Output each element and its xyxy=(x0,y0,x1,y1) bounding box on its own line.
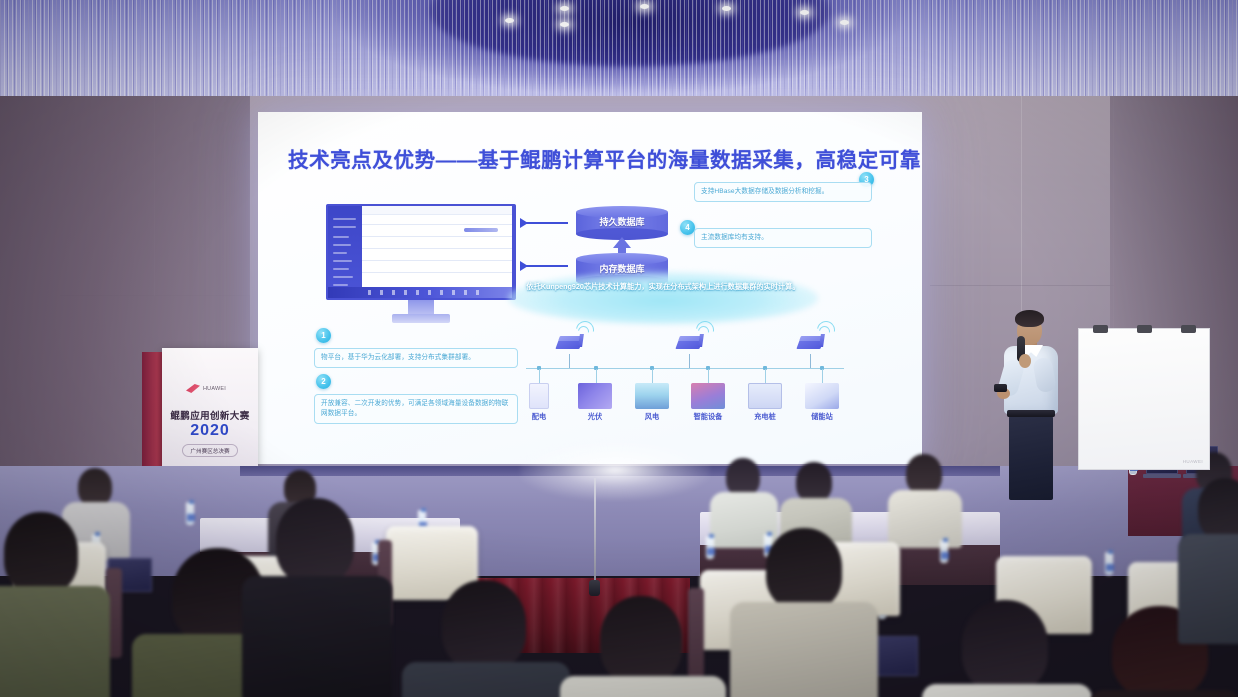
wall-tile xyxy=(930,96,1022,286)
banner-subtitle: 广州赛区总决赛 xyxy=(182,444,238,457)
water-bottle xyxy=(706,536,714,559)
flow-arrow-line xyxy=(526,265,568,267)
gateway-connector xyxy=(810,354,811,368)
microphone-stand xyxy=(594,478,596,586)
microphone-stand-head xyxy=(589,580,600,596)
ceiling-downlight xyxy=(640,4,649,9)
bus-drop xyxy=(596,369,597,383)
person-body xyxy=(0,586,110,697)
device-bus-line xyxy=(526,368,844,369)
banner-panel: HUAWEI 鲲鹏应用创新大赛 2020 广州赛区总决赛 xyxy=(162,348,258,478)
person-body xyxy=(402,662,570,697)
ceiling-downlight xyxy=(800,10,809,15)
monitor-taskbar xyxy=(328,287,512,298)
whiteboard-clip xyxy=(1137,325,1152,333)
projection-screen: 技术亮点及优势——基于鲲鹏计算平台的海量数据采集，高稳定可靠 xyxy=(258,112,922,464)
monitor-base xyxy=(392,314,450,323)
person-head xyxy=(796,462,832,502)
person-head xyxy=(4,512,78,594)
ceiling-downlight xyxy=(840,20,849,25)
gateway-connector xyxy=(689,354,690,368)
cloud-caption: 依托Kunpeng920芯片技术计算能力，实现在分布式架构上进行数据集群的实时计… xyxy=(516,280,810,294)
person-body xyxy=(560,676,726,697)
callout-badge-4: 4 xyxy=(680,220,695,235)
whiteboard-clip xyxy=(1093,325,1108,333)
wind-turbine-icon xyxy=(635,383,669,409)
ceiling-downlight xyxy=(505,18,514,23)
banner-logo-text: HUAWEI xyxy=(203,386,226,392)
person-head xyxy=(600,596,682,684)
presenter-trousers xyxy=(1009,414,1053,500)
bus-drop xyxy=(765,369,766,383)
chair-frame xyxy=(688,588,704,678)
monitor-neck xyxy=(408,300,434,314)
callout-box-3: 支持HBase大数据存储及数据分析和挖掘。 xyxy=(694,182,872,202)
persistent-database-cylinder: 持久数据库 xyxy=(576,206,668,240)
person-body xyxy=(1178,534,1238,644)
person-head xyxy=(726,458,760,496)
conference-photo-scene: 技术亮点及优势——基于鲲鹏计算平台的海量数据采集，高稳定可靠 xyxy=(0,0,1238,697)
whiteboard-footer-text: HUAWEI xyxy=(1183,459,1203,464)
presentation-clicker-icon xyxy=(994,384,1007,392)
slide-title: 技术亮点及优势——基于鲲鹏计算平台的海量数据采集，高稳定可靠 xyxy=(288,143,921,173)
person-body xyxy=(242,576,392,697)
device-label: 充电桩 xyxy=(748,412,782,422)
water-bottle xyxy=(1105,552,1113,575)
person-head xyxy=(78,468,112,506)
device-solar: 光伏 xyxy=(578,383,612,422)
ceiling-downlight xyxy=(560,22,569,27)
device-smart-equipment: 智能设备 xyxy=(691,383,725,422)
device-energy-storage: 储能站 xyxy=(805,383,839,422)
slide-content: 技术亮点及优势——基于鲲鹏计算平台的海量数据采集，高稳定可靠 xyxy=(258,112,922,464)
huawei-logo-icon xyxy=(186,384,200,393)
gateway-device-icon xyxy=(796,334,826,354)
database-label: 持久数据库 xyxy=(576,215,668,228)
callout-badge-2: 2 xyxy=(316,374,331,389)
flow-arrow-head xyxy=(520,218,528,228)
banner-title: 鲲鹏应用创新大赛 xyxy=(162,408,258,422)
person-head xyxy=(1198,478,1238,540)
person-head xyxy=(766,528,842,610)
water-bottle xyxy=(940,540,948,563)
device-wind: 风电 xyxy=(635,383,669,422)
ceiling-downlight xyxy=(560,6,569,11)
gateway-device-icon xyxy=(675,334,705,354)
device-label: 配电 xyxy=(522,412,556,422)
person-body xyxy=(1090,690,1238,697)
flow-up-arrow xyxy=(613,237,631,248)
bus-drop xyxy=(539,369,540,383)
stage-light-glare xyxy=(520,440,710,500)
bus-drop xyxy=(822,369,823,383)
switchgear-icon xyxy=(529,383,549,409)
device-label: 光伏 xyxy=(578,412,612,422)
whiteboard: HUAWEI xyxy=(1078,328,1210,470)
monitor-data-chip xyxy=(464,228,498,232)
laptop-base xyxy=(1143,474,1181,478)
gateway-connector xyxy=(569,354,570,368)
banner-year: 2020 xyxy=(162,422,258,440)
flow-arrow-head xyxy=(520,261,528,271)
monitor-topbar xyxy=(362,206,512,215)
device-label: 智能设备 xyxy=(691,412,725,422)
presenter-hair xyxy=(1015,310,1044,327)
presenter-belt xyxy=(1007,410,1055,417)
ceiling-downlight xyxy=(722,6,731,11)
person-body xyxy=(922,684,1092,697)
person-body xyxy=(888,490,962,548)
wall-tile xyxy=(1022,96,1114,286)
presenter-right-hand xyxy=(1019,354,1031,368)
dashboard-monitor-illustration xyxy=(326,204,516,300)
device-label: 风电 xyxy=(635,412,669,422)
presenter xyxy=(995,310,1069,500)
energy-storage-icon xyxy=(805,383,839,409)
database-label: 内存数据库 xyxy=(576,262,668,275)
solar-panel-icon xyxy=(578,383,612,409)
bus-drop xyxy=(708,369,709,383)
callout-box-2: 开放兼容、二次开发的优势，可满足各领域海量设备数据的物联网数据平台。 xyxy=(314,394,518,424)
charging-pile-icon xyxy=(748,383,782,409)
person-head xyxy=(906,454,942,494)
callout-box-4: 主流数据库均有支持。 xyxy=(694,228,872,248)
whiteboard-clip xyxy=(1181,325,1196,333)
bus-drop xyxy=(652,369,653,383)
device-switchgear: 配电 xyxy=(522,383,556,422)
device-charging-pile: 充电桩 xyxy=(748,383,782,422)
gateway-device-icon xyxy=(555,334,585,354)
flow-arrow-line xyxy=(526,222,568,224)
monitor-sidebar xyxy=(328,206,362,298)
monitor-screen xyxy=(326,204,516,300)
callout-badge-1: 1 xyxy=(316,328,331,343)
smart-device-icon xyxy=(691,383,725,409)
person-head xyxy=(276,498,354,584)
device-label: 储能站 xyxy=(805,412,839,422)
callout-box-1: 物平台，基于华为云化部署，支持分布式集群部署。 xyxy=(314,348,518,368)
water-bottle xyxy=(186,502,194,525)
person-body xyxy=(730,602,878,697)
person-head xyxy=(962,600,1048,692)
person-head xyxy=(442,580,526,670)
